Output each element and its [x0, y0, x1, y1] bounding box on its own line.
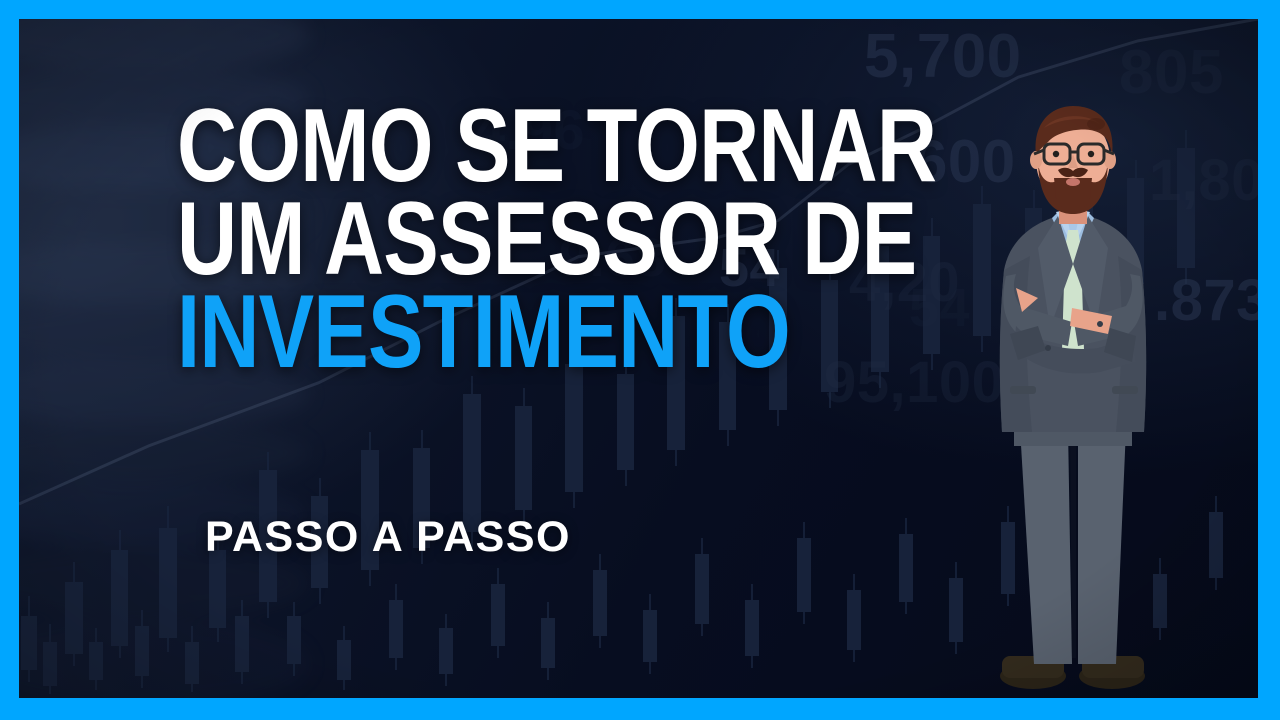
candle-wick	[905, 518, 907, 614]
candle-wick	[395, 584, 397, 670]
candlestick	[89, 168, 103, 698]
candle-wick	[547, 602, 549, 680]
candlestick	[159, 168, 177, 698]
candle-body	[235, 616, 249, 672]
candle-body	[135, 626, 149, 676]
background-number: 5,700	[864, 21, 1022, 92]
candle-body	[515, 406, 532, 510]
candle-body	[337, 640, 351, 680]
candle-wick	[241, 600, 243, 684]
candle-body	[43, 642, 57, 686]
candle-body	[159, 528, 177, 638]
candlestick	[135, 168, 149, 698]
thumbnail-canvas: 5,7008054.966001,8069.68544,2054.87395,1…	[19, 19, 1258, 698]
candle-body	[1209, 512, 1223, 578]
candle-body	[111, 550, 128, 646]
candle-body	[797, 538, 811, 612]
candlestick	[21, 168, 37, 698]
candle-body	[745, 600, 759, 656]
candle-wick	[191, 626, 193, 692]
candle-body	[643, 610, 657, 662]
candle-wick	[701, 538, 703, 636]
candle-body	[899, 534, 913, 602]
candle-wick	[955, 562, 957, 654]
candle-wick	[649, 594, 651, 674]
candle-body	[491, 584, 505, 646]
candle-body	[185, 642, 199, 684]
candle-body	[463, 394, 481, 532]
subtitle: PASSO A PASSO	[205, 513, 571, 562]
headline-line-3-accent: INVESTIMENTO	[177, 283, 936, 382]
candle-wick	[599, 554, 601, 648]
candle-wick	[853, 574, 855, 662]
candle-body	[847, 590, 861, 650]
candle-wick	[293, 602, 295, 676]
candle-body	[541, 618, 555, 668]
candle-body	[65, 582, 83, 654]
candle-body	[287, 616, 301, 664]
candle-wick	[167, 506, 169, 652]
candle-body	[389, 600, 403, 658]
candle-wick	[523, 388, 525, 526]
candlestick	[43, 168, 57, 698]
candle-body	[695, 554, 709, 624]
candle-wick	[369, 432, 371, 586]
headline: COMO SE TORNAR UM ASSESSOR DE INVESTIMEN…	[177, 97, 1126, 375]
candle-wick	[1215, 496, 1217, 590]
youtube-thumbnail: 5,7008054.966001,8069.68544,2054.87395,1…	[0, 0, 1280, 720]
candlestick	[111, 168, 128, 698]
candle-wick	[803, 522, 805, 624]
candlestick	[1209, 168, 1223, 698]
candle-wick	[497, 568, 499, 658]
candle-wick	[119, 530, 121, 658]
candle-wick	[751, 584, 753, 668]
candle-wick	[445, 614, 447, 686]
candle-body	[593, 570, 607, 636]
candle-body	[439, 628, 453, 674]
candle-wick	[95, 628, 97, 690]
candle-body	[89, 642, 103, 680]
candle-wick	[141, 610, 143, 688]
candle-body	[21, 616, 37, 670]
candle-wick	[343, 626, 345, 690]
candle-wick	[49, 624, 51, 694]
candle-wick	[28, 596, 30, 682]
candle-wick	[73, 562, 75, 666]
candlestick	[65, 168, 83, 698]
